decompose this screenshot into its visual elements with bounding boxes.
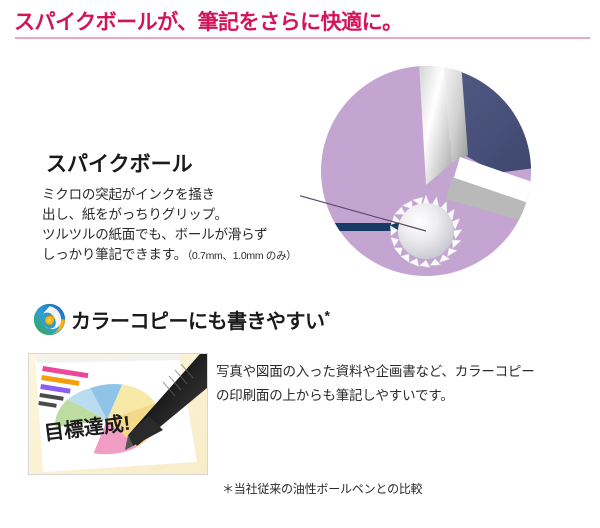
footnote: ＊当社従来の油性ボールペンとの比較 bbox=[222, 480, 422, 497]
spike-size-note: （0.7mm、1.0mm のみ） bbox=[187, 250, 297, 262]
spike-line-4-text: しっかり筆記できます。 bbox=[42, 247, 187, 262]
cc-line-1: 写真や図面の入った資料や企画書など、カラーコピー bbox=[216, 360, 594, 384]
color-swirl-icon bbox=[33, 303, 66, 336]
page-header: スパイクボールが、筆記をさらに快適に。 bbox=[0, 0, 600, 46]
spike-line-2: 出し、紙をがっちりグリップ。 bbox=[42, 205, 342, 225]
spike-ball-illustration bbox=[300, 45, 560, 305]
color-copy-heading: カラーコピーにも書きやすい* bbox=[71, 305, 329, 334]
page-title: スパイクボールが、筆記をさらに快適に。 bbox=[14, 6, 403, 36]
title-divider bbox=[15, 37, 590, 39]
spike-ball-heading: スパイクボール bbox=[46, 148, 193, 178]
spike-line-1: ミクロの突起がインクを掻き bbox=[42, 185, 342, 205]
spike-line-4: しっかり筆記できます。（0.7mm、1.0mm のみ） bbox=[42, 245, 342, 266]
pen-tip-diagram-svg bbox=[300, 45, 560, 305]
color-copy-asterisk: * bbox=[325, 307, 330, 323]
color-copy-heading-row: カラーコピーにも書きやすい* bbox=[33, 303, 329, 336]
color-copy-sample-photo: 目標達成! bbox=[28, 353, 208, 475]
product-feature-page: スパイクボールが、筆記をさらに快適に。 bbox=[0, 0, 600, 528]
cc-line-2: の印刷面の上からも筆記しやすいです。 bbox=[216, 384, 594, 408]
spike-ball-description: ミクロの突起がインクを掻き 出し、紙をがっちりグリップ。 ツルツルの紙面でも、ボ… bbox=[42, 185, 342, 266]
spike-line-3: ツルツルの紙面でも、ボールが滑らず bbox=[42, 225, 342, 245]
color-copy-heading-text: カラーコピーにも書きやすい bbox=[71, 311, 325, 333]
color-copy-description: 写真や図面の入った資料や企画書など、カラーコピー の印刷面の上からも筆記しやすい… bbox=[216, 360, 594, 408]
photo-svg: 目標達成! bbox=[29, 354, 207, 474]
